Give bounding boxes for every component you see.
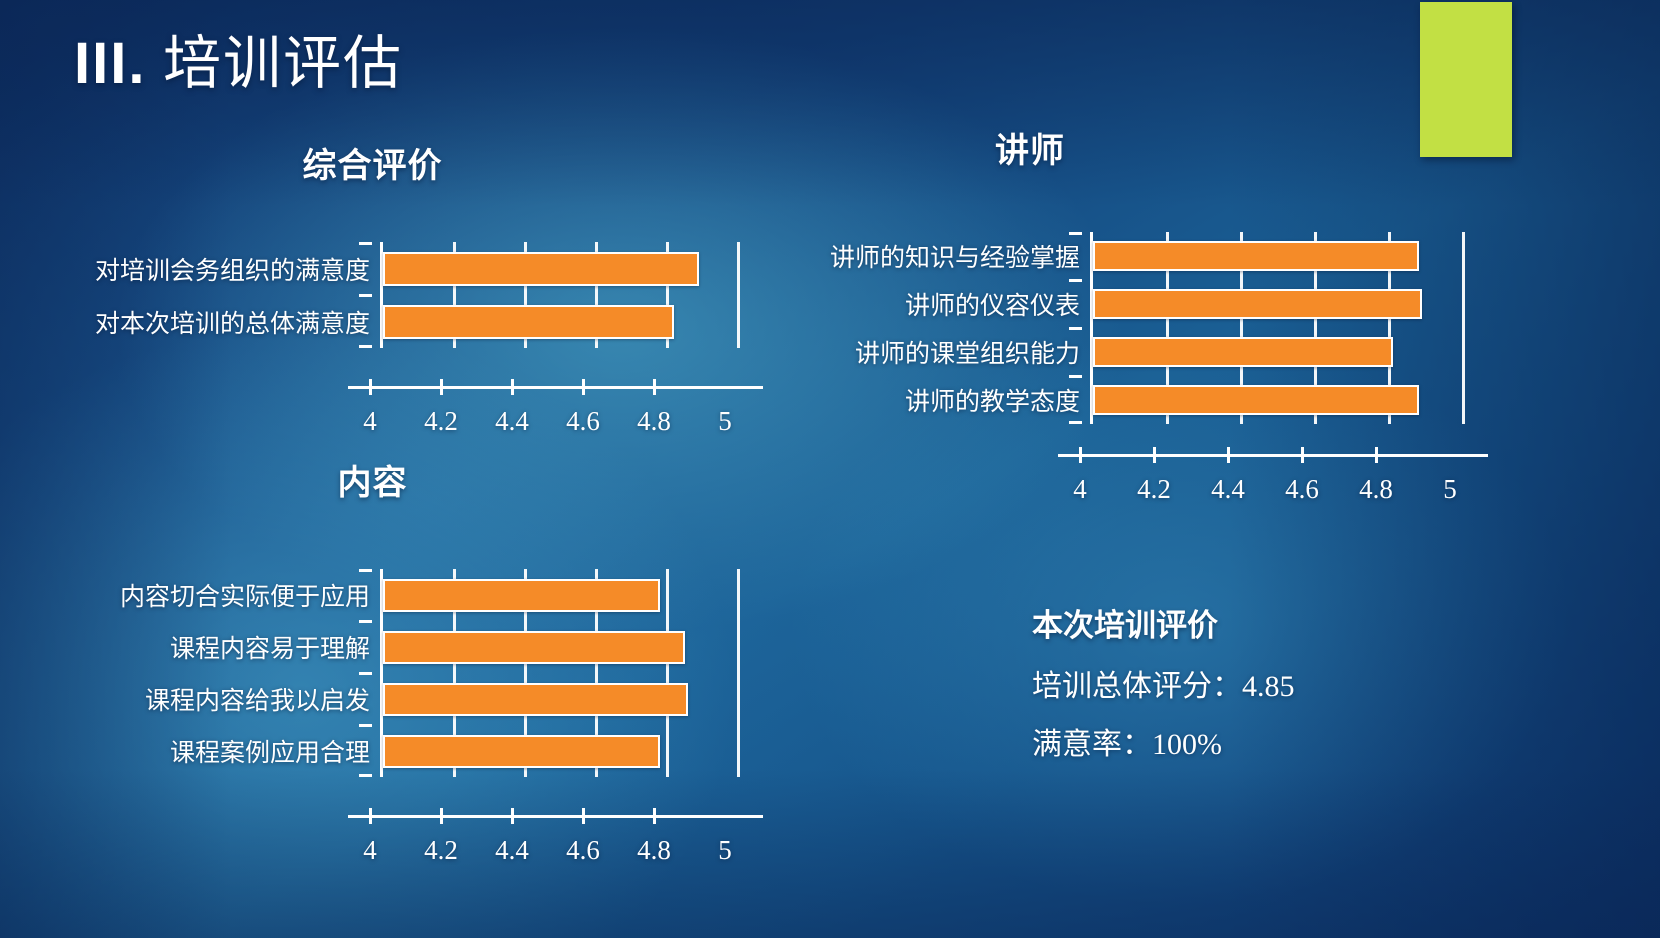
grid-line bbox=[737, 725, 740, 777]
category-label: 内容切合实际便于应用 bbox=[60, 577, 380, 613]
chart-plot-area bbox=[380, 725, 725, 777]
x-axis-tick-label: 4.6 bbox=[1285, 474, 1319, 505]
x-axis-tick bbox=[1375, 447, 1378, 463]
grid-line bbox=[737, 242, 740, 295]
category-tick bbox=[359, 620, 372, 623]
x-axis-tick bbox=[440, 379, 443, 395]
category-axis-top-stub bbox=[359, 242, 372, 245]
bar-content-0 bbox=[383, 579, 660, 612]
category-axis-top-stub bbox=[359, 569, 372, 572]
bar-instructor-3 bbox=[1093, 385, 1419, 415]
chart-row: 内容切合实际便于应用 bbox=[60, 569, 725, 621]
category-axis-bottom-stub bbox=[359, 774, 372, 777]
x-axis-tick bbox=[582, 379, 585, 395]
category-axis-top-stub bbox=[1069, 232, 1082, 235]
bar-instructor-1 bbox=[1093, 289, 1422, 319]
x-axis-tick-label: 5 bbox=[718, 835, 732, 866]
chart-row: 讲师的仪容仪表 bbox=[790, 280, 1450, 328]
grid-line bbox=[1462, 376, 1465, 424]
x-axis-tick-label: 4.2 bbox=[1137, 474, 1171, 505]
slide-canvas: III. 培训评估 综合评价 对培训会务组织的满意度对本次培训的总体满意度44.… bbox=[0, 0, 1660, 938]
chart-panel-overall: 综合评价 对培训会务组织的满意度对本次培训的总体满意度44.24.44.64.8… bbox=[60, 138, 780, 430]
category-tick bbox=[359, 672, 372, 675]
chart-title-instructor: 讲师 bbox=[790, 123, 1270, 172]
category-tick bbox=[1069, 327, 1082, 330]
chart-plot-area bbox=[380, 569, 725, 621]
x-axis-tick bbox=[1301, 447, 1304, 463]
chart-plot-area bbox=[380, 673, 725, 725]
chart-row: 对本次培训的总体满意度 bbox=[60, 295, 725, 348]
bar-chart-overall: 对培训会务组织的满意度对本次培训的总体满意度44.24.44.64.85 bbox=[60, 242, 780, 430]
grid-line bbox=[1462, 232, 1465, 280]
x-axis-tick-label: 4 bbox=[1073, 474, 1087, 505]
chart-plot-area bbox=[380, 242, 725, 295]
x-axis-tick-label: 4 bbox=[363, 835, 377, 866]
category-label: 讲师的知识与经验掌握 bbox=[790, 238, 1090, 274]
x-axis-tick bbox=[582, 808, 585, 824]
x-axis-tick bbox=[369, 808, 372, 824]
chart-panel-content: 内容 内容切合实际便于应用课程内容易于理解课程内容给我以启发课程案例应用合理44… bbox=[60, 455, 780, 859]
x-axis-tick bbox=[1227, 447, 1230, 463]
bar-chart-content: 内容切合实际便于应用课程内容易于理解课程内容给我以启发课程案例应用合理44.24… bbox=[60, 569, 780, 859]
summary-block: 本次培训评价 培训总体评分：4.85 满意率：100% bbox=[1032, 600, 1295, 777]
x-axis-tick bbox=[653, 379, 656, 395]
category-tick bbox=[359, 294, 372, 297]
chart-plot-area bbox=[1090, 232, 1450, 280]
category-label: 讲师的课堂组织能力 bbox=[790, 334, 1090, 370]
x-axis-tick bbox=[511, 379, 514, 395]
x-axis-tick-label: 4.8 bbox=[637, 406, 671, 437]
x-axis-tick-label: 4.2 bbox=[424, 406, 458, 437]
x-axis-tick bbox=[511, 808, 514, 824]
chart-title-overall: 综合评价 bbox=[60, 138, 685, 187]
category-tick bbox=[359, 724, 372, 727]
category-label: 对本次培训的总体满意度 bbox=[60, 304, 380, 340]
chart-plot-area bbox=[380, 295, 725, 348]
grid-line bbox=[737, 621, 740, 673]
x-axis-tick-label: 4.4 bbox=[495, 406, 529, 437]
x-axis-line bbox=[348, 386, 763, 389]
page-title: III. 培训评估 bbox=[74, 34, 403, 95]
x-axis-tick-label: 4.6 bbox=[566, 835, 600, 866]
chart-plot-area bbox=[380, 621, 725, 673]
chart-row: 课程内容给我以启发 bbox=[60, 673, 725, 725]
x-axis-tick-label: 4.6 bbox=[566, 406, 600, 437]
x-axis-tick-label: 5 bbox=[718, 406, 732, 437]
chart-rows: 讲师的知识与经验掌握讲师的仪容仪表讲师的课堂组织能力讲师的教学态度 bbox=[790, 232, 1450, 424]
grid-line bbox=[666, 725, 669, 777]
grid-line bbox=[737, 569, 740, 621]
category-label: 课程案例应用合理 bbox=[60, 733, 380, 769]
x-axis-tick-label: 4.8 bbox=[1359, 474, 1393, 505]
bar-overall-0 bbox=[383, 252, 699, 286]
x-axis-tick bbox=[369, 379, 372, 395]
grid-line bbox=[737, 295, 740, 348]
x-axis-line bbox=[348, 815, 763, 818]
page-title-numeral: III. bbox=[74, 31, 146, 96]
category-label: 讲师的教学态度 bbox=[790, 382, 1090, 418]
x-axis-tick-label: 5 bbox=[1443, 474, 1457, 505]
bar-instructor-0 bbox=[1093, 241, 1419, 271]
category-label: 讲师的仪容仪表 bbox=[790, 286, 1090, 322]
grid-line bbox=[1462, 280, 1465, 328]
category-tick bbox=[1069, 375, 1082, 378]
category-axis-bottom-stub bbox=[1069, 421, 1082, 424]
chart-row: 讲师的教学态度 bbox=[790, 376, 1450, 424]
x-axis-tick bbox=[1079, 447, 1082, 463]
chart-row: 讲师的知识与经验掌握 bbox=[790, 232, 1450, 280]
chart-panel-instructor: 讲师 讲师的知识与经验掌握讲师的仪容仪表讲师的课堂组织能力讲师的教学态度44.2… bbox=[790, 123, 1490, 498]
x-axis-tick bbox=[653, 808, 656, 824]
chart-rows: 内容切合实际便于应用课程内容易于理解课程内容给我以启发课程案例应用合理 bbox=[60, 569, 725, 777]
chart-row: 课程内容易于理解 bbox=[60, 621, 725, 673]
bar-content-1 bbox=[383, 631, 685, 664]
chart-plot-area bbox=[1090, 328, 1450, 376]
x-axis-tick-label: 4.4 bbox=[495, 835, 529, 866]
bar-instructor-2 bbox=[1093, 337, 1393, 367]
summary-total-score: 培训总体评分：4.85 bbox=[1032, 661, 1295, 705]
bar-content-2 bbox=[383, 683, 688, 716]
x-axis-tick bbox=[1153, 447, 1156, 463]
grid-line bbox=[737, 673, 740, 725]
chart-plot-area bbox=[1090, 280, 1450, 328]
summary-heading: 本次培训评价 bbox=[1032, 600, 1295, 645]
category-label: 课程内容易于理解 bbox=[60, 629, 380, 665]
x-axis-tick-label: 4.8 bbox=[637, 835, 671, 866]
bar-chart-instructor: 讲师的知识与经验掌握讲师的仪容仪表讲师的课堂组织能力讲师的教学态度44.24.4… bbox=[790, 232, 1490, 498]
grid-line bbox=[1462, 328, 1465, 376]
summary-satisfaction-rate: 满意率：100% bbox=[1032, 719, 1295, 763]
category-label: 课程内容给我以启发 bbox=[60, 681, 380, 717]
x-axis-tick-label: 4 bbox=[363, 406, 377, 437]
chart-row: 课程案例应用合理 bbox=[60, 725, 725, 777]
category-axis-bottom-stub bbox=[359, 345, 372, 348]
bar-overall-1 bbox=[383, 305, 674, 339]
chart-rows: 对培训会务组织的满意度对本次培训的总体满意度 bbox=[60, 242, 725, 348]
grid-line bbox=[666, 569, 669, 621]
chart-row: 讲师的课堂组织能力 bbox=[790, 328, 1450, 376]
chart-title-content: 内容 bbox=[60, 455, 685, 504]
x-axis-line bbox=[1058, 454, 1488, 457]
category-label: 对培训会务组织的满意度 bbox=[60, 251, 380, 287]
bar-content-3 bbox=[383, 735, 660, 768]
x-axis-tick-label: 4.4 bbox=[1211, 474, 1245, 505]
x-axis-tick bbox=[440, 808, 443, 824]
page-title-text: 培训评估 bbox=[146, 31, 403, 96]
x-axis-tick-label: 4.2 bbox=[424, 835, 458, 866]
chart-row: 对培训会务组织的满意度 bbox=[60, 242, 725, 295]
category-tick bbox=[1069, 279, 1082, 282]
chart-plot-area bbox=[1090, 376, 1450, 424]
